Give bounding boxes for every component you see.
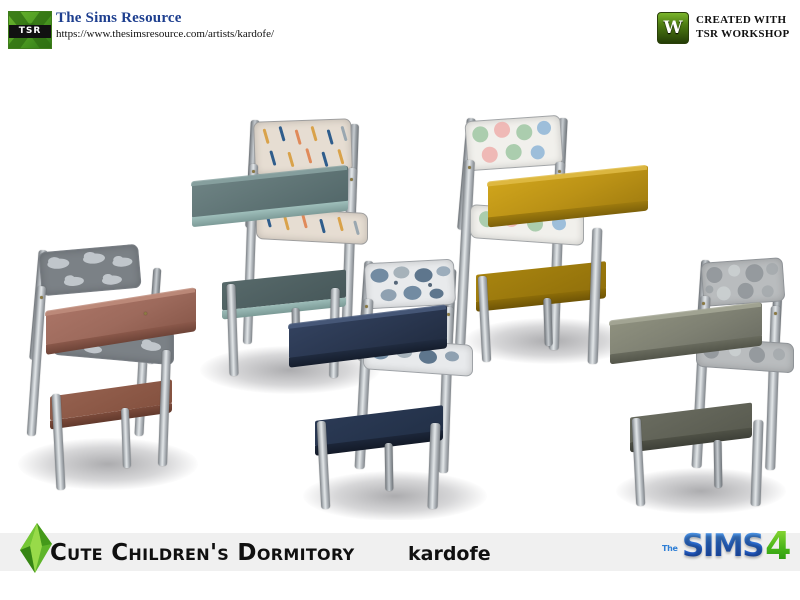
frame-rivet xyxy=(468,166,471,169)
frame-rear-leg xyxy=(543,298,553,346)
workshop-badge-letter: W xyxy=(658,13,688,43)
frame-rear-leg xyxy=(714,440,723,488)
frame-rivet xyxy=(702,302,705,305)
frame-rivet xyxy=(40,296,43,299)
sims4-logo-sims: SIMS xyxy=(682,528,763,564)
chair-olive-bubbles[interactable] xyxy=(600,248,795,518)
brand-url[interactable]: https://www.thesimsresource.com/artists/… xyxy=(56,28,274,40)
frame-rivet xyxy=(558,170,561,173)
lower-shelf xyxy=(315,405,443,447)
sims4-logo-icon: The SIMS 4 xyxy=(660,526,792,574)
product-preview-stage xyxy=(0,58,800,520)
workshop-credit-line2: TSR WORKSHOP xyxy=(696,27,790,41)
frame-side-rail-right xyxy=(765,306,781,470)
page-header: TSR The Sims Resource https://www.thesim… xyxy=(0,0,800,58)
backrest-cushion xyxy=(38,244,141,297)
tsr-logo-bar: TSR xyxy=(9,25,51,38)
workshop-credit: CREATED WITH TSR WORKSHOP xyxy=(696,13,790,41)
author-name: kardofe xyxy=(408,538,491,570)
frame-rivet xyxy=(365,305,368,308)
sims4-logo-the: The xyxy=(662,544,678,553)
frame-side-rail-left xyxy=(27,286,46,436)
tsr-logo-text: TSR xyxy=(9,25,51,38)
chair-shadow xyxy=(303,471,487,521)
desk-surface[interactable] xyxy=(192,166,348,218)
sims4-logo-four: 4 xyxy=(765,524,791,568)
bubble-pattern xyxy=(702,258,785,305)
lower-shelf xyxy=(630,403,752,444)
circle-pattern xyxy=(465,116,562,170)
cloud-pattern xyxy=(39,245,140,295)
chair-shadow xyxy=(18,438,198,490)
tsr-workshop-icon: W xyxy=(657,12,689,44)
page-footer: Cute Children's Dormitory kardofe The SI… xyxy=(0,520,800,600)
backrest-cushion xyxy=(464,115,563,172)
frame-rivet xyxy=(252,170,255,173)
fish-pattern xyxy=(365,260,455,309)
frame-rear-leg xyxy=(385,443,394,491)
backrest-cushion xyxy=(364,259,456,310)
plumbob-icon xyxy=(18,522,54,574)
workshop-credit-line1: CREATED WITH xyxy=(696,13,790,27)
page-title: Cute Children's Dormitory xyxy=(50,537,355,569)
brand-title: The Sims Resource xyxy=(56,10,182,27)
frame-rivet xyxy=(447,313,450,316)
lower-shelf xyxy=(476,261,606,303)
lower-shelf xyxy=(50,379,172,420)
tsr-logo-icon: TSR xyxy=(8,11,52,49)
frame-rivet xyxy=(350,178,353,181)
frame-rivet xyxy=(144,312,147,315)
backrest-cushion xyxy=(701,257,786,307)
frame-rivet xyxy=(774,312,777,315)
desk-surface[interactable] xyxy=(488,166,648,219)
desk-surface[interactable] xyxy=(610,303,762,356)
desk-surface[interactable] xyxy=(289,305,447,358)
chair-navy-fish[interactable] xyxy=(285,253,490,523)
